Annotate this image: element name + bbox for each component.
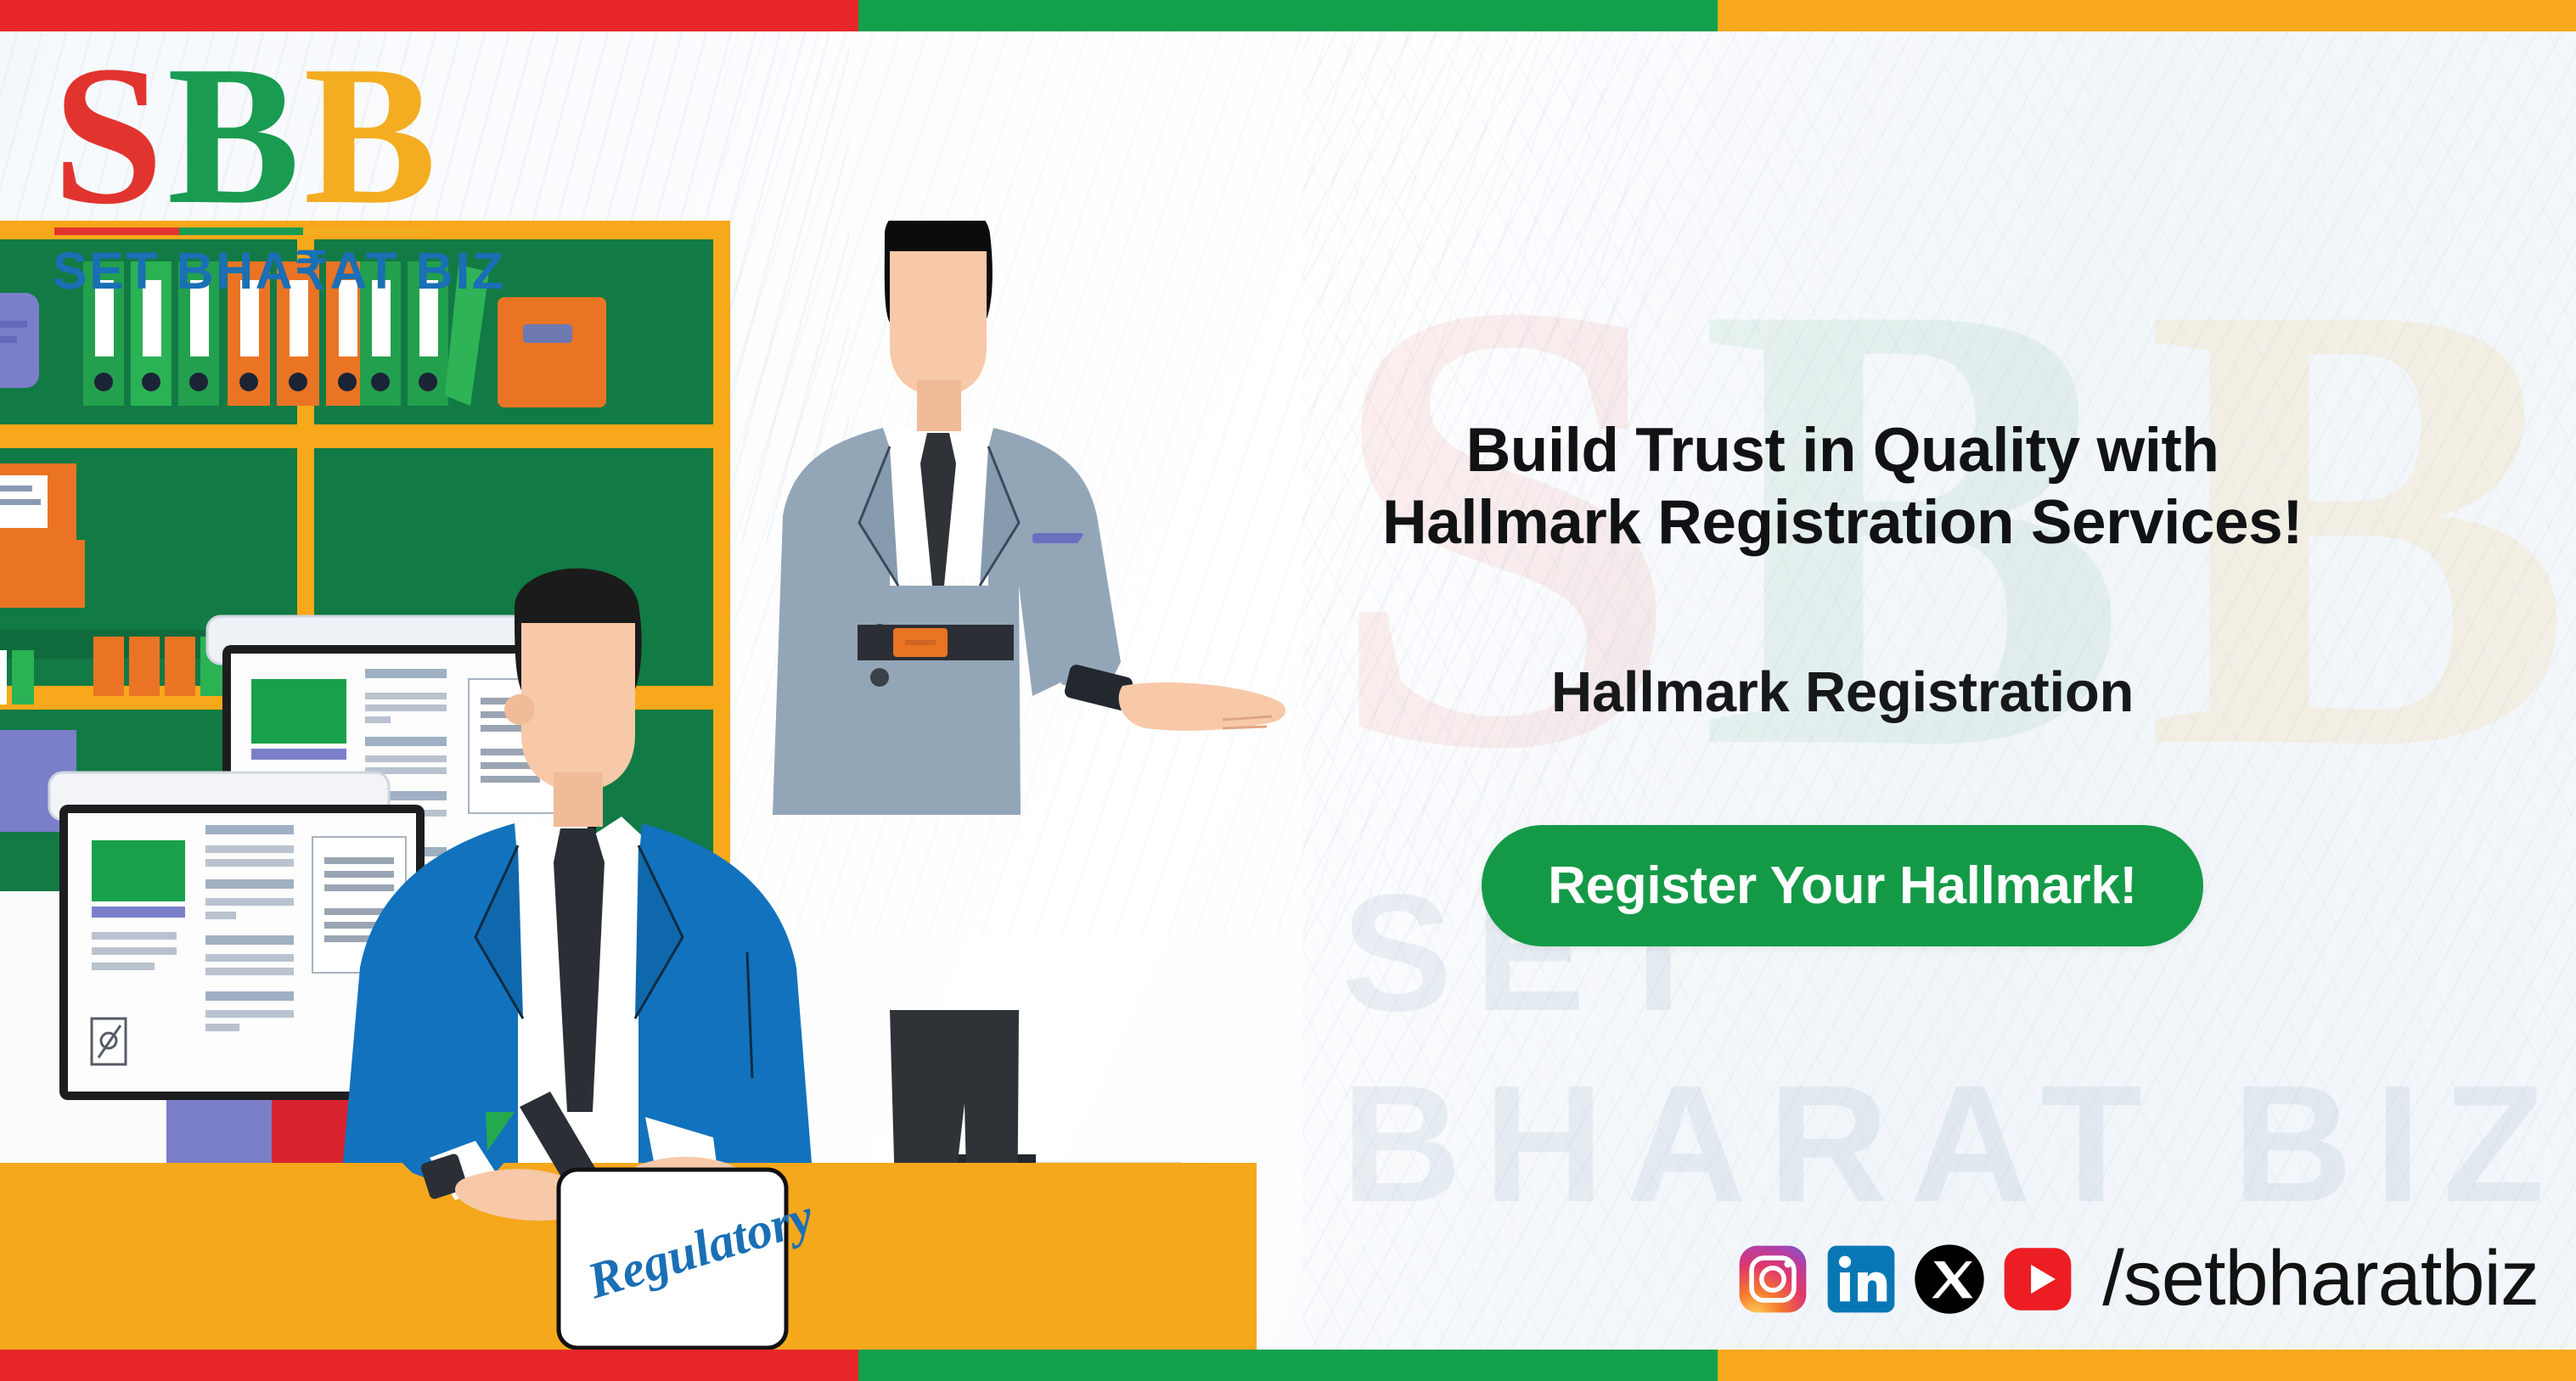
- logo-letter-s: S: [53, 25, 167, 245]
- headline-line-1: Build Trust in Quality with: [1466, 416, 2219, 485]
- copy-block: Build Trust in Quality with Hallmark Reg…: [1291, 414, 2394, 946]
- linkedin-icon[interactable]: [1825, 1243, 1897, 1315]
- top-tricolor-stripe: [0, 0, 2576, 31]
- stripe-red: [0, 1350, 858, 1381]
- brand-logo[interactable]: SBB SET BHA₹AT BIZ: [53, 49, 506, 301]
- social-links: /setbharatbiz: [1737, 1234, 2539, 1323]
- stripe-green: [858, 0, 1717, 31]
- social-handle[interactable]: /setbharatbiz: [2102, 1234, 2539, 1323]
- illustration-svg: Regulatory: [0, 221, 1460, 1350]
- headline-line-2: Hallmark Registration Services!: [1382, 488, 2303, 557]
- register-hallmark-button[interactable]: Register Your Hallmark!: [1482, 825, 2203, 946]
- cta-wrapper: Register Your Hallmark!: [1291, 825, 2394, 946]
- office-illustration: Regulatory: [0, 221, 1460, 1350]
- standing-man: [773, 221, 1285, 1249]
- stripe-red: [0, 0, 858, 31]
- service-subtitle: Hallmark Registration: [1291, 660, 2394, 725]
- logo-letter-b2: B: [303, 25, 440, 245]
- bottom-tricolor-stripe: [0, 1350, 2576, 1381]
- stripe-green: [858, 1350, 1717, 1381]
- logo-letter-b1: B: [167, 25, 304, 245]
- stripe-orange: [1718, 0, 2576, 31]
- logo-tricolor-rule: [54, 227, 428, 235]
- logo-letters: SBB: [53, 49, 506, 221]
- logo-tagline: SET BHA₹AT BIZ: [53, 241, 506, 301]
- x-twitter-icon[interactable]: [1914, 1243, 1985, 1315]
- youtube-icon[interactable]: [2002, 1243, 2073, 1315]
- page-title: Build Trust in Quality with Hallmark Reg…: [1291, 414, 2394, 559]
- regulatory-document: Regulatory: [559, 1170, 820, 1348]
- instagram-icon[interactable]: [1737, 1243, 1808, 1315]
- marketing-banner: SBB SET BHARAT BIZ SBB SET BHA₹AT BIZ: [0, 0, 2576, 1381]
- stripe-orange: [1718, 1350, 2576, 1381]
